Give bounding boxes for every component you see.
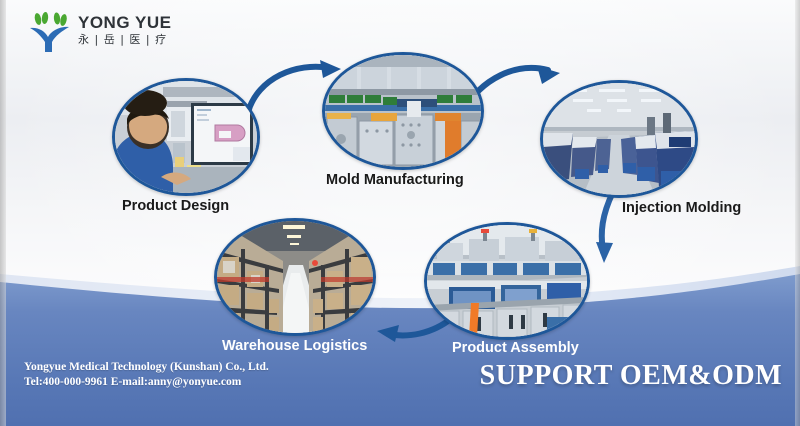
caption-injection-molding: Injection Molding	[622, 200, 741, 216]
injection-molding-machine-hall-illustration	[543, 83, 695, 195]
blue-wave-background	[0, 226, 800, 426]
process-step-mold-manufacturing[interactable]: Mold Manufacturing	[322, 52, 484, 170]
footer-company-info: Yongyue Medical Technology (Kunshan) Co.…	[24, 360, 269, 390]
logo-name-cn: 永 | 岳 | 医 | 疗	[78, 33, 171, 46]
product-design-photo	[112, 78, 260, 196]
injection-molding-photo	[540, 80, 698, 198]
footer-slogan: SUPPORT OEM&ODM	[480, 360, 782, 392]
caption-product-design: Product Design	[122, 198, 229, 214]
process-step-product-assembly[interactable]: Product Assembly	[424, 222, 590, 340]
process-step-product-design[interactable]: Product Design	[112, 78, 260, 196]
poster-canvas: YONG YUE 永 | 岳 | 医 | 疗	[0, 0, 800, 426]
warehouse-racking-aisle-illustration	[217, 221, 373, 333]
cleanroom-assembly-line-illustration	[427, 225, 587, 337]
yongyue-tree-logo-icon	[26, 12, 72, 54]
product-assembly-photo	[424, 222, 590, 340]
footer-company-name: Yongyue Medical Technology (Kunshan) Co.…	[24, 360, 269, 375]
caption-product-assembly: Product Assembly	[452, 340, 579, 356]
left-edge-shadow	[0, 0, 6, 426]
warehouse-logistics-photo	[214, 218, 376, 336]
caption-mold-manufacturing: Mold Manufacturing	[326, 172, 464, 188]
mold-manufacturing-photo	[322, 52, 484, 170]
process-step-injection-molding[interactable]: Injection Molding	[540, 80, 698, 198]
company-logo[interactable]: YONG YUE 永 | 岳 | 医 | 疗	[26, 8, 206, 56]
mold-tooling-workshop-illustration	[325, 55, 481, 167]
process-step-warehouse-logistics[interactable]: Warehouse Logistics	[214, 218, 376, 336]
logo-name-en: YONG YUE	[78, 14, 171, 32]
engineer-at-cad-workstation-illustration	[115, 81, 257, 193]
logo-wordmark: YONG YUE 永 | 岳 | 医 | 疗	[78, 14, 171, 46]
caption-warehouse-logistics: Warehouse Logistics	[222, 338, 367, 354]
right-edge-shadow	[795, 0, 800, 426]
footer-contact: Tel:400-000-9961 E-mail:anny@yonyue.com	[24, 375, 269, 390]
